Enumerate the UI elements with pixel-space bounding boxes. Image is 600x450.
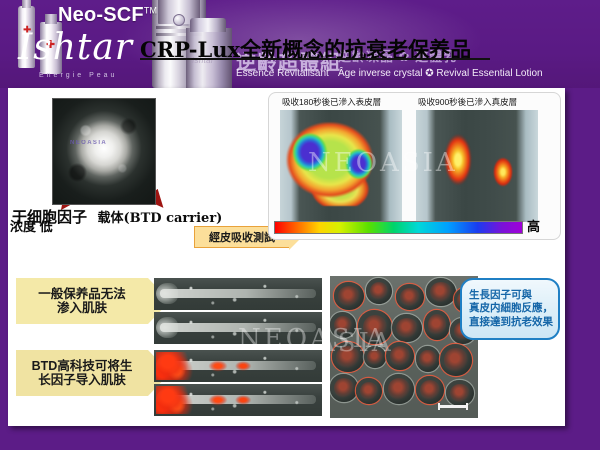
callout-line-1: 生長因子可與	[469, 289, 532, 302]
thermal-blob-dermis-right	[490, 154, 516, 190]
cell-watermark: NEOASIA	[70, 140, 107, 146]
growth-factor-callout: 生長因子可與 真皮内細胞反應， 直接達到抗老效果	[460, 278, 560, 340]
brand-neo-scf: Neo-SCFTM	[58, 4, 157, 27]
thermal-caption-900s: 吸收900秒後已滲入真皮層	[418, 96, 517, 108]
cell	[392, 314, 422, 342]
slide-root: ✚ ✚ Ishtar Neo-SCFTM Ishtar Énergie Peau…	[0, 0, 600, 450]
subbrand-french-primary: Essence Revitalisant	[236, 68, 329, 79]
cell	[396, 284, 424, 310]
brand-banner: ✚ ✚ Ishtar Neo-SCFTM Ishtar Énergie Peau…	[0, 0, 600, 88]
thermal-image-180s	[280, 110, 402, 222]
callout-line-3: 直接達到抗老效果	[469, 316, 553, 329]
label-normal-skincare: 一般保养品无法 渗入肌肤	[16, 278, 148, 324]
cell	[416, 376, 444, 404]
fluorescence-signal-bulb	[156, 386, 196, 414]
fluorescence-signal-bulb	[156, 352, 196, 380]
pump-cap-secondary	[190, 18, 226, 32]
fluorescence-signal-shaft	[206, 358, 266, 374]
cell	[446, 380, 474, 406]
pump-button-icon	[173, 14, 185, 26]
thermal-caption-180s: 吸收180秒後已滲入表皮層	[282, 96, 381, 108]
thermal-blob-epidermis	[286, 122, 390, 206]
brand-tagline: Énergie Peau	[39, 72, 117, 79]
stem-cell-micrograph	[52, 98, 156, 205]
cell	[334, 282, 364, 310]
thermal-blob-dermis-left	[440, 130, 476, 192]
cell	[384, 374, 414, 404]
content-panel: NEOASIA 干细胞因子 载体(BTD carrier) 經皮吸收測試 吸收1…	[8, 88, 565, 426]
follicle-strip-btd-1	[154, 350, 322, 382]
brand-neo-scf-text: Neo-SCF	[58, 4, 144, 26]
fluorescence-signal-shaft	[206, 392, 266, 408]
legend-label-high: 高	[527, 216, 540, 235]
caption-btd-carrier: 载体(BTD carrier)	[97, 211, 222, 226]
label-btd-technology-line2: 长因子导入肌肤	[38, 373, 126, 387]
cell	[356, 378, 382, 404]
label-normal-skincare-line1: 一般保养品无法	[38, 287, 126, 301]
arrow-label-text: 經皮吸收測試	[209, 229, 275, 245]
thermal-skin-region	[416, 110, 538, 222]
legend-label-low: 浓度 低	[10, 216, 53, 235]
cell	[424, 310, 450, 340]
follicle-strip-btd-2	[154, 384, 322, 416]
cell	[330, 374, 358, 402]
cell	[426, 278, 456, 306]
thermal-image-900s	[416, 110, 538, 222]
confocal-cell-micrograph: ASIA	[330, 276, 478, 418]
cell	[366, 278, 392, 304]
title-underline	[140, 58, 490, 60]
label-normal-skincare-line2: 渗入肌肤	[57, 301, 107, 315]
label-btd-technology-line1: BTD高科技可将生	[32, 359, 133, 373]
brand-ishtar: Ishtar	[18, 30, 133, 66]
subbrand-french-secondary: Âge inverse crystal ✪ Revival Essential …	[338, 68, 543, 79]
follicle-strip-control-1	[154, 278, 322, 310]
callout-line-2: 真皮内細胞反應，	[469, 302, 553, 315]
trademark-symbol: TM	[144, 5, 157, 15]
label-btd-technology: BTD高科技可将生 长因子导入肌肤	[16, 350, 148, 396]
scale-bar	[438, 405, 468, 408]
micrograph-watermark: ASIA	[330, 328, 394, 358]
follicle-speckles	[154, 278, 322, 310]
cell	[416, 346, 440, 372]
cell	[440, 344, 472, 376]
concentration-colorbar	[274, 221, 523, 234]
